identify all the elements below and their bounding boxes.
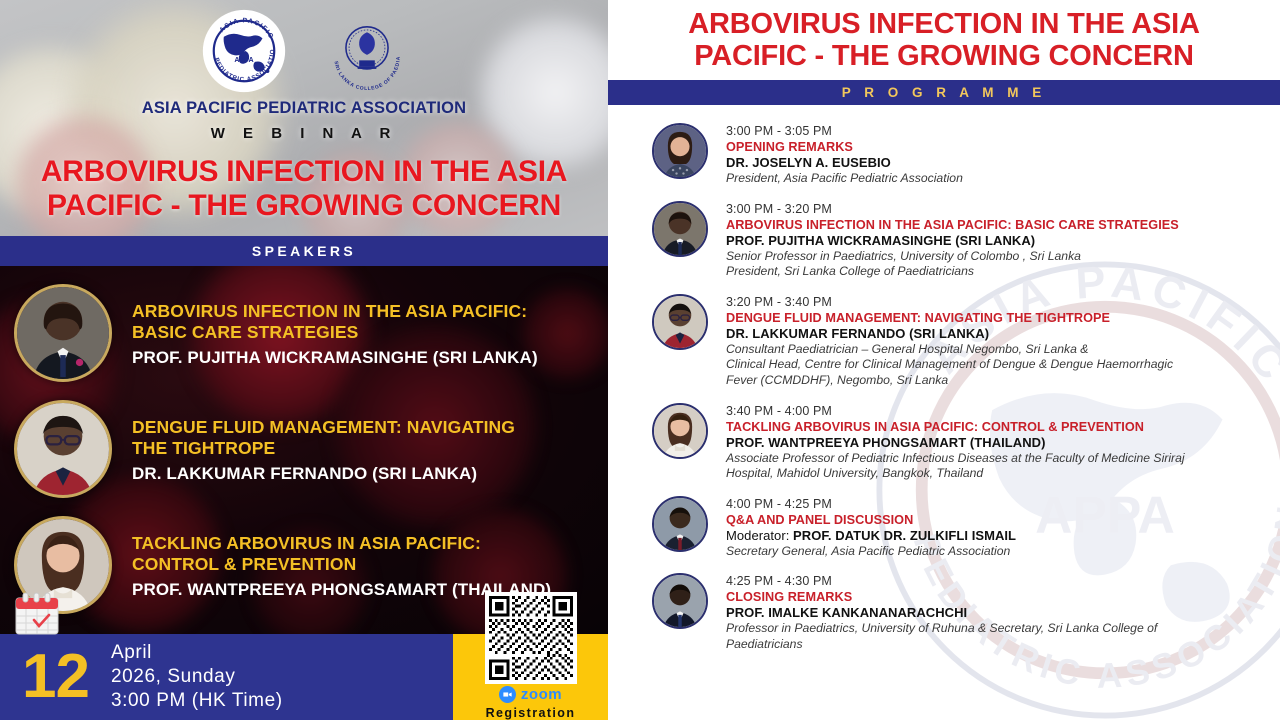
event-date-lines: April 2026, Sunday 3:00 PM (HK Time) [111,641,283,714]
slcp-logo-icon: SRI LANKA COLLEGE OF PAEDIATRICIANS [328,12,406,90]
organization-name: ASIA PACIFIC PEDIATRIC ASSOCIATION [0,99,608,118]
programme-speaker-name: PROF. WANTPREEYA PHONGSAMART (THAILAND) [726,435,1185,450]
programme-avatar [652,123,708,179]
registration-label: Registration [486,706,576,720]
qr-code[interactable] [485,592,577,684]
programme-time: 4:25 PM - 4:30 PM [726,574,1157,588]
programme-body: 4:25 PM - 4:30 PM CLOSING REMARKS PROF. … [726,573,1157,652]
event-time: 3:00 PM (HK Time) [111,689,283,713]
left-footer: 12 April 2026, Sunday 3:00 PM (HK Time) [0,634,608,720]
programme-avatar [652,573,708,629]
programme-topic: TACKLING ARBOVIRUS IN ASIA PACIFIC: CONT… [726,420,1185,434]
webinar-label: W E B I N A R [0,125,608,142]
moderator-prefix: Moderator: [726,528,793,543]
programme-bar: P R O G R A M M E [608,80,1280,105]
appa-logo-icon: APPA ASIA PACIFIC PEDIATRIC ASSOCIATION [202,9,286,93]
programme-avatar [652,403,708,459]
right-panel: ASIA PACIFIC PEDIATRIC ASSOCIATION APPA … [608,0,1280,720]
programme-body: 3:00 PM - 3:05 PM OPENING REMARKS DR. JO… [726,123,963,187]
programme-item: 3:00 PM - 3:20 PM ARBOVIRUS INFECTION IN… [652,201,1266,280]
programme-affiliation: Consultant Paediatrician – General Hospi… [726,342,1173,389]
poster-title-line2: PACIFIC - THE GROWING CONCERN [0,189,608,223]
programme-body: 4:00 PM - 4:25 PM Q&A AND PANEL DISCUSSI… [726,496,1016,560]
speaker-topic-line1: ARBOVIRUS INFECTION IN THE ASIA PACIFIC: [132,301,538,322]
event-day: 12 [22,646,89,708]
webinar-poster: APPA ASIA PACIFIC PEDIATRIC ASSOCIATION [0,0,1280,720]
programme-time: 3:00 PM - 3:20 PM [726,202,1179,216]
speakers-bar: SPEAKERS [0,236,608,266]
programme-topic: DENGUE FLUID MANAGEMENT: NAVIGATING THE … [726,311,1173,325]
speaker-text: DENGUE FLUID MANAGEMENT: NAVIGATING THE … [132,415,515,484]
programme-topic: Q&A AND PANEL DISCUSSION [726,513,1016,527]
programme-speaker-name: PROF. IMALKE KANKANANARACHCHI [726,605,1157,620]
programme-body: 3:40 PM - 4:00 PM TACKLING ARBOVIRUS IN … [726,403,1185,482]
programme-affiliation: Senior Professor in Paediatrics, Univers… [726,249,1179,280]
programme-list: 3:00 PM - 3:05 PM OPENING REMARKS DR. JO… [608,105,1280,653]
speakers-section: ARBOVIRUS INFECTION IN THE ASIA PACIFIC:… [0,266,608,634]
programme-time: 4:00 PM - 4:25 PM [726,497,1016,511]
programme-item: 3:00 PM - 3:05 PM OPENING REMARKS DR. JO… [652,123,1266,187]
speaker-name: PROF. PUJITHA WICKRAMASINGHE (SRI LANKA) [132,348,538,368]
programme-speaker-name: DR. JOSELYN A. EUSEBIO [726,155,963,170]
programme-item: 4:25 PM - 4:30 PM CLOSING REMARKS PROF. … [652,573,1266,652]
calendar-icon [14,592,60,636]
programme-speaker-name: DR. LAKKUMAR FERNANDO (SRI LANKA) [726,326,1173,341]
programme-affiliation: Secretary General, Asia Pacific Pediatri… [726,544,1016,560]
zoom-label: zoom [521,686,562,703]
programme-affiliation: Professor in Paediatrics, University of … [726,621,1157,652]
programme-topic: OPENING REMARKS [726,140,963,154]
programme-avatar [652,496,708,552]
programme-body: 3:00 PM - 3:20 PM ARBOVIRUS INFECTION IN… [726,201,1179,280]
programme-avatar [652,201,708,257]
speaker-topic-line1: TACKLING ARBOVIRUS IN ASIA PACIFIC: [132,533,551,554]
programme-bar-label: P R O G R A M M E [842,85,1047,100]
speaker-row: DENGUE FLUID MANAGEMENT: NAVIGATING THE … [0,400,608,498]
speaker-topic-line1: DENGUE FLUID MANAGEMENT: NAVIGATING [132,417,515,438]
programme-item: 3:40 PM - 4:00 PM TACKLING ARBOVIRUS IN … [652,403,1266,482]
poster-title-line1: ARBOVIRUS INFECTION IN THE ASIA [0,155,608,189]
left-panel: APPA ASIA PACIFIC PEDIATRIC ASSOCIATION [0,0,608,720]
speaker-topic-line2: BASIC CARE STRATEGIES [132,322,538,343]
programme-body: 3:20 PM - 3:40 PM DENGUE FLUID MANAGEMEN… [726,294,1173,389]
zoom-camera-icon [499,686,516,703]
speaker-topic-line2: CONTROL & PREVENTION [132,554,551,575]
speaker-name: DR. LAKKUMAR FERNANDO (SRI LANKA) [132,464,515,484]
zoom-logo: zoom [499,686,562,703]
programme-avatar [652,294,708,350]
appa-logo-center-text: APPA [234,55,253,63]
programme-time: 3:00 PM - 3:05 PM [726,124,963,138]
speakers-bar-label: SPEAKERS [252,243,356,259]
programme-title: ARBOVIRUS INFECTION IN THE ASIA PACIFIC … [608,0,1280,73]
speaker-text: TACKLING ARBOVIRUS IN ASIA PACIFIC: CONT… [132,531,551,600]
event-year-weekday: 2026, Sunday [111,665,283,689]
programme-speaker-name: PROF. PUJITHA WICKRAMASINGHE (SRI LANKA) [726,233,1179,248]
programme-title-line2: PACIFIC - THE GROWING CONCERN [626,40,1262,72]
programme-time: 3:40 PM - 4:00 PM [726,404,1185,418]
speaker-row: ARBOVIRUS INFECTION IN THE ASIA PACIFIC:… [0,284,608,382]
programme-item: 4:00 PM - 4:25 PM Q&A AND PANEL DISCUSSI… [652,496,1266,560]
programme-speaker-name: PROF. DATUK DR. ZULKIFLI ISMAIL [793,528,1016,543]
programme-topic: CLOSING REMARKS [726,590,1157,604]
registration-block[interactable]: zoom Registration [453,634,608,720]
speaker-avatar [14,400,112,498]
programme-item: 3:20 PM - 3:40 PM DENGUE FLUID MANAGEMEN… [652,294,1266,389]
speaker-avatar [14,284,112,382]
programme-affiliation: President, Asia Pacific Pediatric Associ… [726,171,963,187]
programme-time: 3:20 PM - 3:40 PM [726,295,1173,309]
event-month: April [111,641,283,665]
programme-moderator-line: Moderator: PROF. DATUK DR. ZULKIFLI ISMA… [726,528,1016,543]
left-header: APPA ASIA PACIFIC PEDIATRIC ASSOCIATION [0,0,608,236]
poster-title: ARBOVIRUS INFECTION IN THE ASIA PACIFIC … [0,155,608,222]
programme-topic: ARBOVIRUS INFECTION IN THE ASIA PACIFIC:… [726,218,1179,232]
logo-row: APPA ASIA PACIFIC PEDIATRIC ASSOCIATION [0,0,608,96]
event-date-block: 12 April 2026, Sunday 3:00 PM (HK Time) [0,634,453,720]
programme-title-line1: ARBOVIRUS INFECTION IN THE ASIA [626,8,1262,40]
programme-affiliation: Associate Professor of Pediatric Infecti… [726,451,1185,482]
speaker-topic-line2: THE TIGHTROPE [132,438,515,459]
speaker-text: ARBOVIRUS INFECTION IN THE ASIA PACIFIC:… [132,299,538,368]
